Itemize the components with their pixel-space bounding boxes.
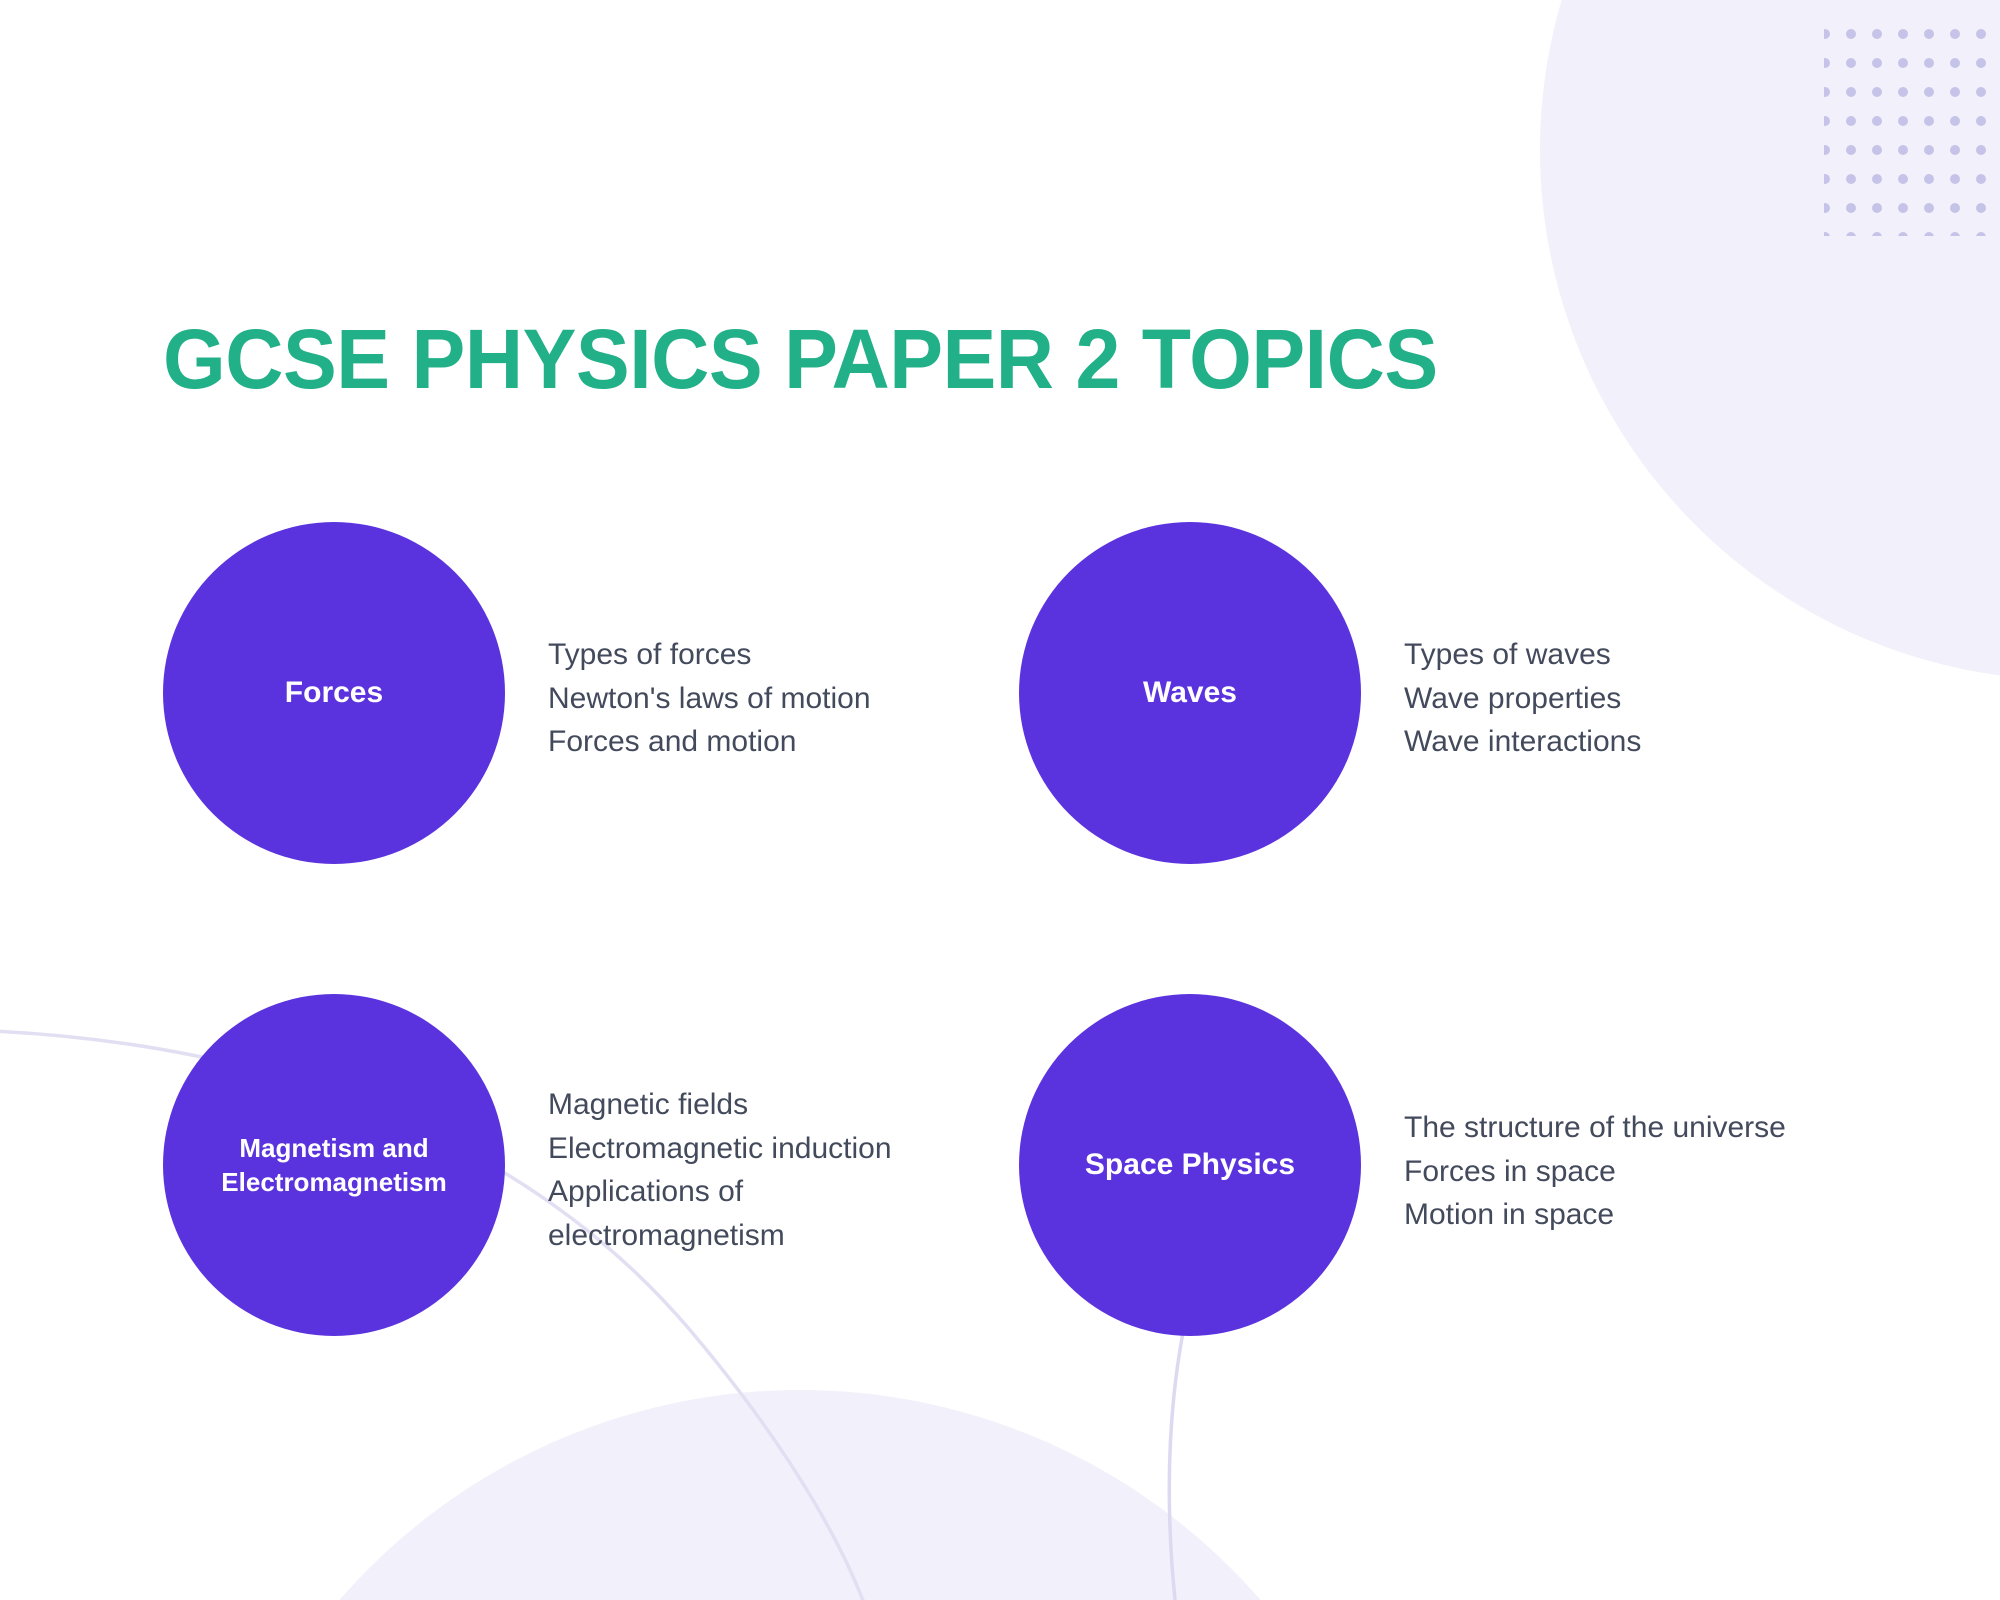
topic-item-list-forces: Types of forces Newton's laws of motion … bbox=[548, 633, 968, 764]
top-right-blob-icon bbox=[1540, 0, 2000, 680]
topic-item: Forces and motion bbox=[548, 720, 968, 764]
topic-bubble-label: Magnetism and Electromagnetism bbox=[189, 1131, 479, 1200]
topic-item: The structure of the universe bbox=[1404, 1106, 1874, 1150]
topic-item-list-waves: Types of waves Wave properties Wave inte… bbox=[1404, 633, 1834, 764]
topic-item: Magnetic fields bbox=[548, 1083, 988, 1127]
topic-item: Forces in space bbox=[1404, 1150, 1874, 1194]
topic-item: Applications of electromagnetism bbox=[548, 1170, 988, 1257]
topic-bubble-magnetism[interactable]: Magnetism and Electromagnetism bbox=[163, 994, 505, 1336]
topic-item: Electromagnetic induction bbox=[548, 1127, 988, 1171]
topic-bubble-forces[interactable]: Forces bbox=[163, 522, 505, 864]
bottom-left-blob-icon bbox=[190, 1390, 1410, 1600]
infographic-canvas: GCSE PHYSICS PAPER 2 TOPICS Forces Types… bbox=[0, 0, 2000, 1600]
topic-bubble-space-physics[interactable]: Space Physics bbox=[1019, 994, 1361, 1336]
topic-item: Types of waves bbox=[1404, 633, 1834, 677]
topic-item: Motion in space bbox=[1404, 1193, 1874, 1237]
topic-bubble-label: Waves bbox=[1143, 673, 1237, 713]
topic-item: Newton's laws of motion bbox=[548, 677, 968, 721]
topic-item: Types of forces bbox=[548, 633, 968, 677]
page-title: GCSE PHYSICS PAPER 2 TOPICS bbox=[163, 317, 1438, 401]
topic-bubble-label: Space Physics bbox=[1085, 1145, 1295, 1185]
topic-item: Wave interactions bbox=[1404, 720, 1834, 764]
topic-item: Wave properties bbox=[1404, 677, 1834, 721]
topic-item-list-space-physics: The structure of the universe Forces in … bbox=[1404, 1106, 1874, 1237]
topic-bubble-waves[interactable]: Waves bbox=[1019, 522, 1361, 864]
dot-grid-icon bbox=[1824, 16, 1994, 236]
topic-bubble-label: Forces bbox=[285, 673, 383, 713]
topic-item-list-magnetism: Magnetic fields Electromagnetic inductio… bbox=[548, 1083, 988, 1257]
